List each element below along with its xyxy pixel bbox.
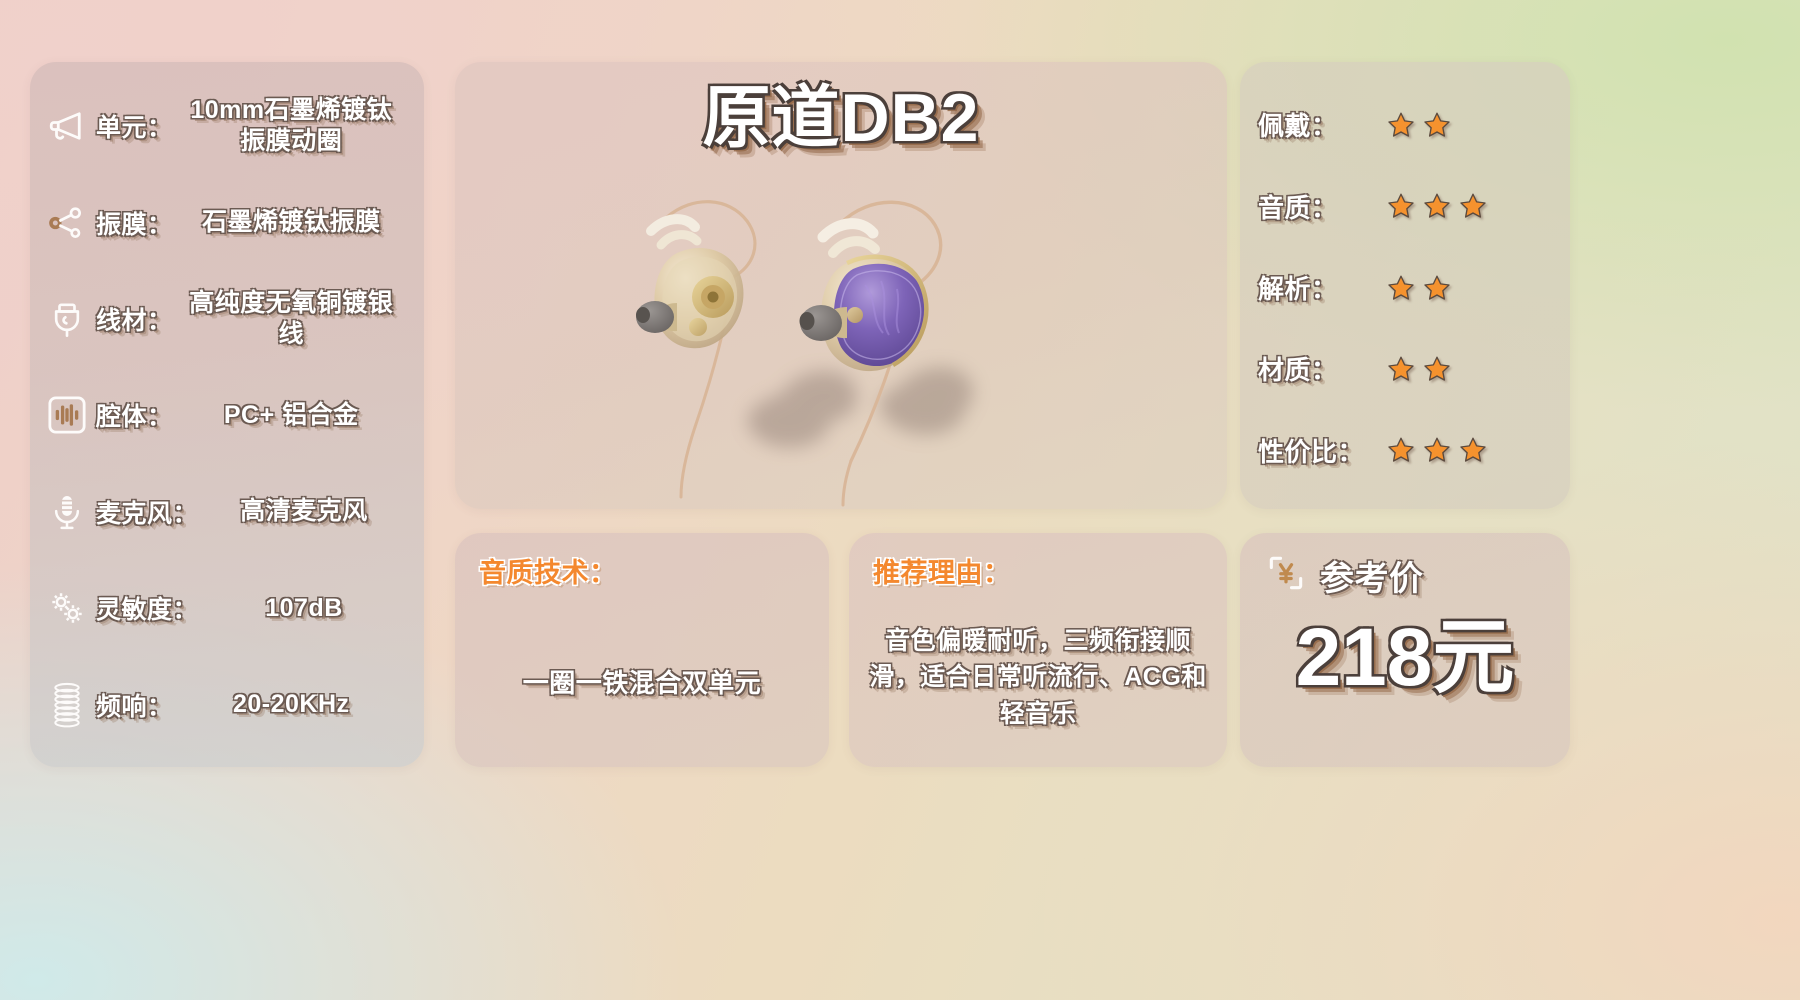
spec-value: 高纯度无氧铜镀银线 xyxy=(179,288,404,351)
rating-row-value: 性价比： xyxy=(1258,410,1552,491)
star-icon xyxy=(1422,435,1452,465)
price-label: 参考价 xyxy=(1320,551,1424,600)
star-icon xyxy=(1422,191,1452,221)
rating-stars xyxy=(1386,110,1452,140)
recommend-reason-heading: 推荐理由： xyxy=(873,551,1011,590)
spec-value: 20-20KHz xyxy=(179,689,404,720)
sound-tech-panel: 音质技术： 一圈一铁混合双单元 xyxy=(455,533,829,767)
rating-label: 音质： xyxy=(1258,188,1386,225)
spec-value: 107dB xyxy=(204,593,404,624)
spec-label: 振膜： xyxy=(96,205,173,241)
ratings-panel: 佩戴： 音质： 解析： 材质： 性价比： xyxy=(1240,62,1570,509)
price-panel: 参考价 218元 xyxy=(1240,533,1570,767)
star-icon xyxy=(1422,273,1452,303)
sound-tech-body: 一圈一铁混合双单元 xyxy=(473,615,811,753)
spec-value: 石墨烯镀钛振膜 xyxy=(179,207,404,238)
plug-icon xyxy=(44,296,90,342)
star-icon xyxy=(1422,110,1452,140)
price-amount: 218元 xyxy=(1240,617,1570,699)
spec-label: 线材： xyxy=(96,301,173,337)
star-icon xyxy=(1386,435,1416,465)
spec-value: PC+ 铝合金 xyxy=(179,400,404,431)
ratings-list: 佩戴： 音质： 解析： 材质： 性价比： xyxy=(1240,62,1570,509)
spec-label: 麦克风： xyxy=(96,494,198,530)
spec-row-cable: 线材： 高纯度无氧铜镀银线 xyxy=(38,271,410,367)
spec-row-diaphragm: 振膜： 石墨烯镀钛振膜 xyxy=(38,174,410,270)
star-icon xyxy=(1386,273,1416,303)
infographic-root: 单元： 10mm石墨烯镀钛振膜动圈 振膜： 石墨烯镀钛振膜 xyxy=(0,0,1800,1000)
product-image xyxy=(455,157,1227,507)
rating-row-fit: 佩戴： xyxy=(1258,84,1552,165)
page-title: 原道DB2 xyxy=(455,84,1227,152)
rating-stars xyxy=(1386,435,1488,465)
spec-row-microphone: 麦克风： 高清麦克风 xyxy=(38,464,410,560)
price-header: 参考价 xyxy=(1264,551,1424,600)
spec-label: 频响： xyxy=(96,687,173,723)
spec-value: 10mm石墨烯镀钛振膜动圈 xyxy=(179,95,404,158)
spec-row-cavity: 腔体： PC+ 铝合金 xyxy=(38,367,410,463)
hero-panel: 原道DB2 xyxy=(455,62,1227,509)
spec-row-driver: 单元： 10mm石墨烯镀钛振膜动圈 xyxy=(38,78,410,174)
star-icon xyxy=(1458,435,1488,465)
star-icon xyxy=(1386,354,1416,384)
share-node-icon xyxy=(44,200,90,246)
spec-value: 高清麦克风 xyxy=(204,496,404,527)
rating-row-resolution: 解析： xyxy=(1258,247,1552,328)
rating-row-sound: 音质： xyxy=(1258,165,1552,246)
coil-icon xyxy=(44,682,90,728)
rating-label: 佩戴： xyxy=(1258,106,1386,143)
waveform-icon xyxy=(44,392,90,438)
star-icon xyxy=(1386,191,1416,221)
star-icon xyxy=(1422,354,1452,384)
rating-label: 材质： xyxy=(1258,350,1386,387)
rating-stars xyxy=(1386,354,1452,384)
spec-label: 灵敏度： xyxy=(96,590,198,626)
spec-label: 单元： xyxy=(96,108,173,144)
gears-icon xyxy=(44,585,90,631)
spec-row-frequency: 频响： 20-20KHz xyxy=(38,657,410,753)
star-icon xyxy=(1386,110,1416,140)
microphone-icon xyxy=(44,489,90,535)
spec-row-sensitivity: 灵敏度： 107dB xyxy=(38,560,410,656)
rating-label: 性价比： xyxy=(1258,432,1386,469)
rating-stars xyxy=(1386,191,1488,221)
star-icon xyxy=(1458,191,1488,221)
rating-label: 解析： xyxy=(1258,269,1386,306)
specs-list: 单元： 10mm石墨烯镀钛振膜动圈 振膜： 石墨烯镀钛振膜 xyxy=(30,62,424,767)
recommend-reason-panel: 推荐理由： 音色偏暖耐听，三频衔接顺滑，适合日常听流行、ACG和轻音乐 xyxy=(849,533,1227,767)
yen-tag-icon xyxy=(1264,551,1308,600)
spec-label: 腔体： xyxy=(96,397,173,433)
rating-stars xyxy=(1386,273,1452,303)
specs-panel: 单元： 10mm石墨烯镀钛振膜动圈 振膜： 石墨烯镀钛振膜 xyxy=(30,62,424,767)
rating-row-material: 材质： xyxy=(1258,328,1552,409)
recommend-reason-body: 音色偏暖耐听，三频衔接顺滑，适合日常听流行、ACG和轻音乐 xyxy=(867,615,1209,753)
sound-tech-heading: 音质技术： xyxy=(479,551,617,590)
megaphone-icon xyxy=(44,103,90,149)
